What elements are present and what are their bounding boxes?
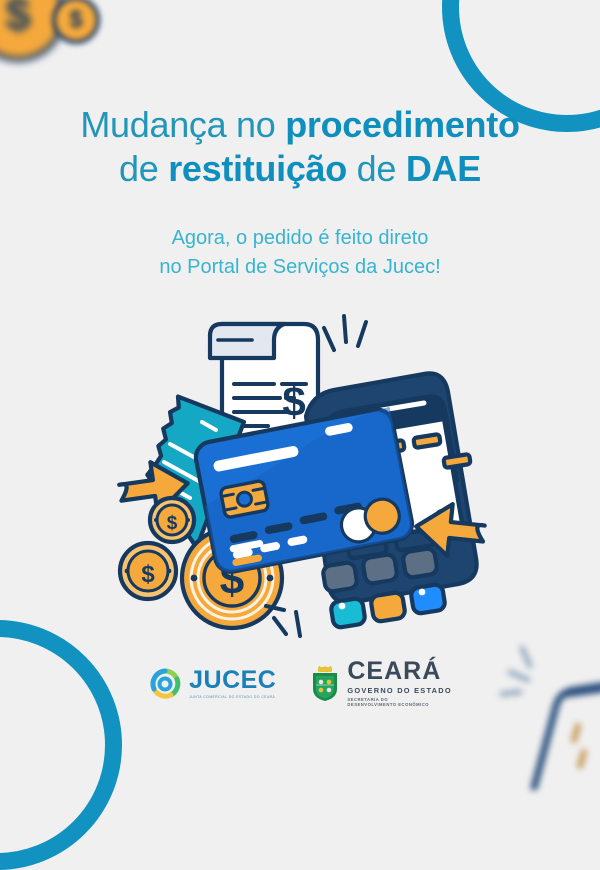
sparkle-top — [324, 316, 366, 350]
headline-line2-bold-b: DAE — [406, 148, 481, 189]
decorative-blurred-coin-small — [52, 0, 100, 44]
headline-line1-bold: procedimento — [285, 104, 519, 145]
jucec-tagline: JUNTA COMERCIAL DO ESTADO DO CEARÁ — [189, 695, 276, 699]
headline-line2-normal-b: de — [347, 148, 406, 189]
ceara-coat-of-arms-icon — [310, 666, 340, 702]
jucec-wordmark: JUCEC — [189, 668, 276, 693]
decorative-blurred-coin-large — [0, 0, 66, 62]
subheadline: Agora, o pedido é feito direto no Portal… — [0, 224, 600, 282]
ceara-government-logo: CEARÁ GOVERNO DO ESTADO SECRETARIA DO DE… — [310, 659, 451, 708]
card-chip — [220, 480, 269, 518]
headline: Mudança no procedimento de restituição d… — [0, 104, 600, 191]
coin-medium: $ — [120, 543, 176, 599]
svg-text:$: $ — [282, 378, 305, 425]
footer-logos: JUCEC JUNTA COMERCIAL DO ESTADO DO CEARÁ — [0, 659, 600, 708]
headline-line1-normal: Mudança no — [80, 104, 285, 145]
svg-text:$: $ — [167, 513, 178, 534]
subheadline-line1: Agora, o pedido é feito direto — [0, 224, 600, 253]
coin-small: $ — [150, 498, 194, 542]
headline-line2-bold-a: restituição — [168, 148, 347, 189]
payment-terminal-illustration: $ — [110, 288, 490, 638]
subheadline-line2: no Portal de Serviços da Jucec! — [0, 253, 600, 282]
svg-text:$: $ — [141, 561, 155, 588]
ceara-subtitle: GOVERNO DO ESTADO — [347, 687, 451, 694]
decorative-arc-bottom-left — [0, 620, 122, 870]
jucec-logo: JUCEC JUNTA COMERCIAL DO ESTADO DO CEARÁ — [148, 667, 276, 701]
poster-canvas: Mudança no procedimento de restituição d… — [0, 0, 600, 750]
ceara-secretariat-line1: SECRETARIA DO — [347, 697, 388, 702]
ceara-secretariat-line2: DESENVOLVIMENTO ECONÔMICO — [347, 702, 429, 707]
headline-line2-normal-a: de — [119, 148, 168, 189]
ceara-wordmark: CEARÁ — [347, 659, 451, 684]
jucec-mark-icon — [148, 667, 182, 701]
